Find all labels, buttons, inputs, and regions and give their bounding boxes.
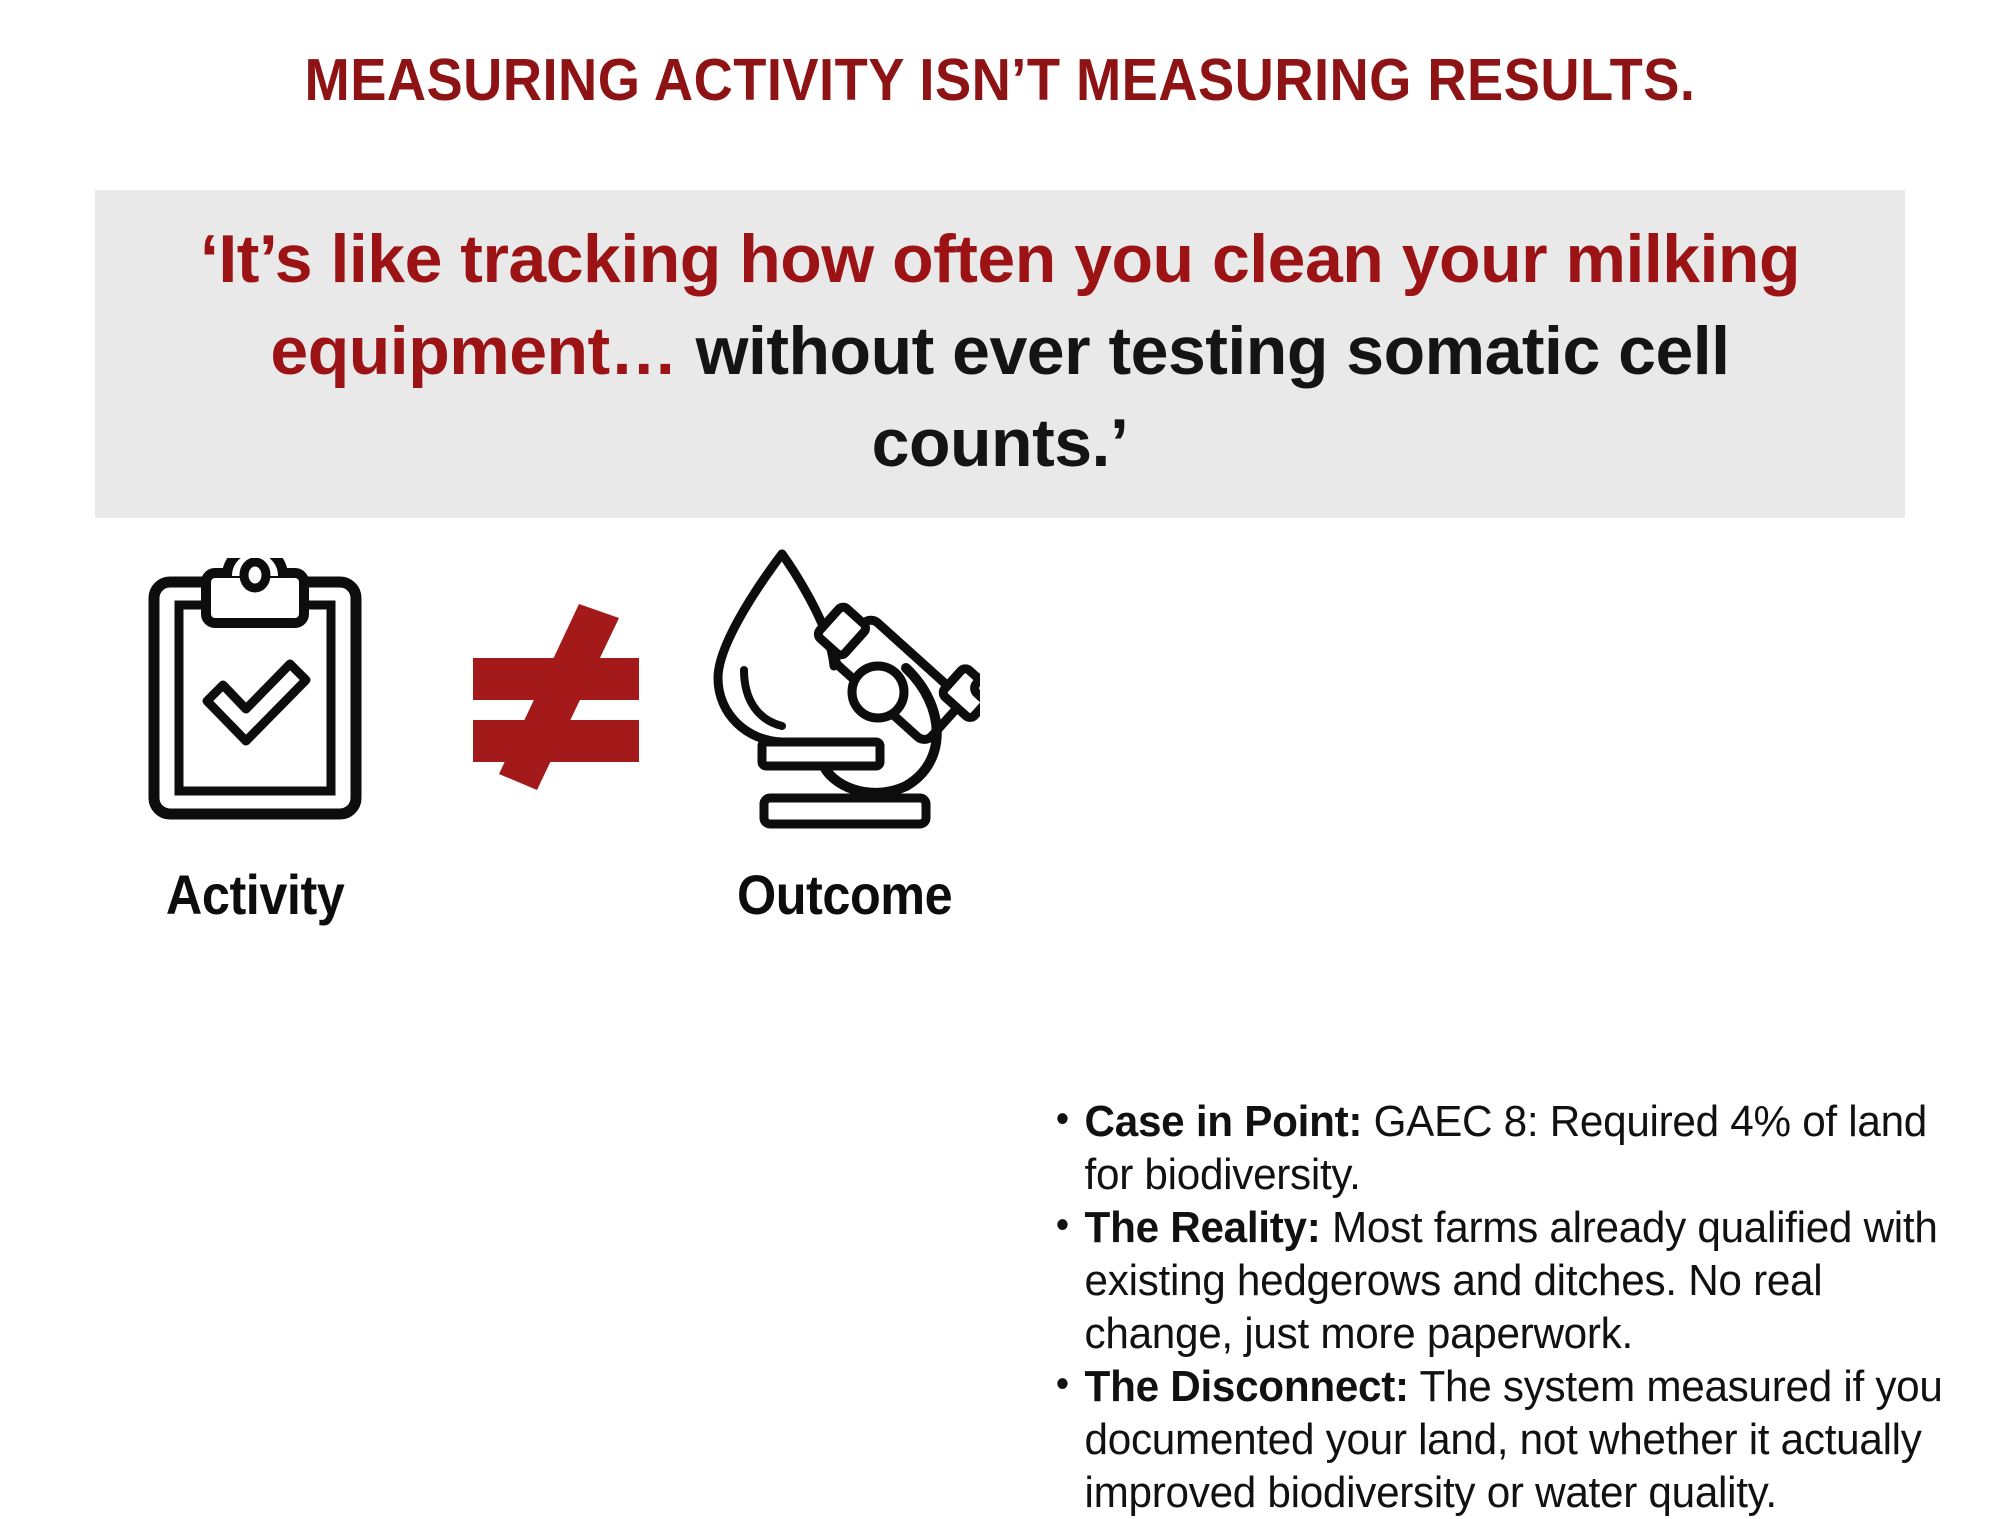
microscope-droplet-icon	[710, 540, 980, 840]
activity-vs-outcome-group: Activity	[60, 540, 1050, 1040]
quote-text: ‘It’s like tracking how often you clean …	[150, 213, 1850, 495]
activity-label: Activity	[166, 862, 344, 927]
quote-banner: ‘It’s like tracking how often you clean …	[95, 190, 1905, 518]
bullet-lead: The Disconnect:	[1085, 1362, 1409, 1411]
bullet-lead: The Reality:	[1085, 1203, 1321, 1252]
page-title: MEASURING ACTIVITY ISN’T MEASURING RESUL…	[80, 46, 1920, 114]
lower-content-area: Activity	[0, 540, 2000, 1100]
clipboard-check-icon	[145, 540, 365, 840]
outcome-label: Outcome	[737, 862, 952, 927]
key-points-list: Case in Point: GAEC 8: Required 4% of la…	[1050, 1095, 1990, 1519]
list-item: The Reality: Most farms already qualifie…	[1050, 1201, 1952, 1360]
activity-cell: Activity	[90, 540, 420, 1040]
bullet-lead: Case in Point:	[1085, 1097, 1363, 1146]
list-item: The Disconnect: The system measured if y…	[1050, 1360, 1952, 1519]
not-equal-icon	[456, 592, 656, 802]
quote-black-segment: without ever testing somatic cell counts…	[696, 313, 1730, 481]
list-item: Case in Point: GAEC 8: Required 4% of la…	[1050, 1095, 1952, 1201]
outcome-cell: Outcome	[680, 540, 1010, 1040]
